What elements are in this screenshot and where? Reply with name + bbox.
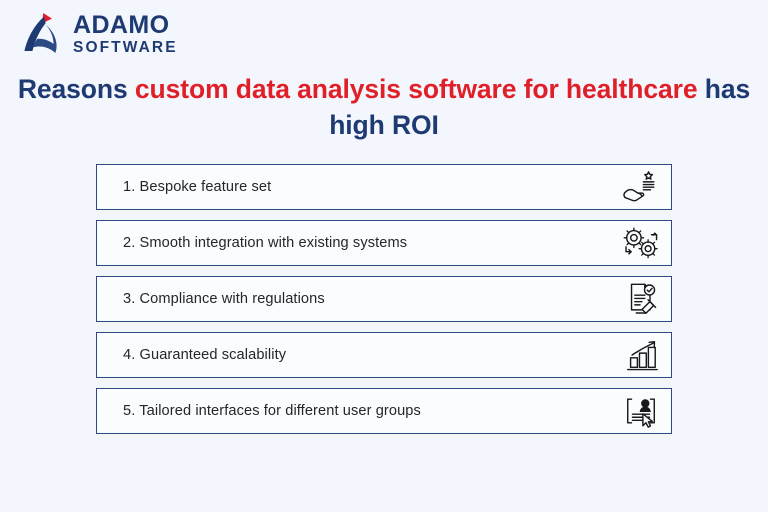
list-item-label: 2. Smooth integration with existing syst… <box>123 235 407 251</box>
page-title: Reasons custom data analysis software fo… <box>0 72 768 144</box>
list-item-label: 5. Tailored interfaces for different use… <box>123 403 421 419</box>
user-card-cursor-icon <box>619 392 663 430</box>
two-gears-sync-icon <box>619 224 663 262</box>
document-check-gavel-icon <box>619 280 663 318</box>
reasons-list: 1. Bespoke feature set 2. Smooth integra… <box>96 164 672 434</box>
brand-name-secondary: SOFTWARE <box>73 39 178 57</box>
adamo-a-mark-icon <box>18 10 64 58</box>
list-item[interactable]: 4. Guaranteed scalability <box>96 332 672 378</box>
list-item[interactable]: 5. Tailored interfaces for different use… <box>96 388 672 434</box>
list-item-label: 4. Guaranteed scalability <box>123 347 286 363</box>
title-part-2: custom data analysis software for health… <box>135 74 698 104</box>
brand-name-primary: ADAMO <box>73 13 178 39</box>
title-part-1: Reasons <box>18 74 135 104</box>
brand-wordmark: ADAMO SOFTWARE <box>73 11 178 57</box>
list-item[interactable]: 3. Compliance with regulations <box>96 276 672 322</box>
growing-bar-chart-arrow-icon <box>619 336 663 374</box>
hand-holding-star-list-icon <box>619 168 663 206</box>
list-item-label: 1. Bespoke feature set <box>123 179 271 195</box>
list-item-label: 3. Compliance with regulations <box>123 291 325 307</box>
list-item[interactable]: 2. Smooth integration with existing syst… <box>96 220 672 266</box>
list-item[interactable]: 1. Bespoke feature set <box>96 164 672 210</box>
brand-logo: ADAMO SOFTWARE <box>18 8 178 60</box>
